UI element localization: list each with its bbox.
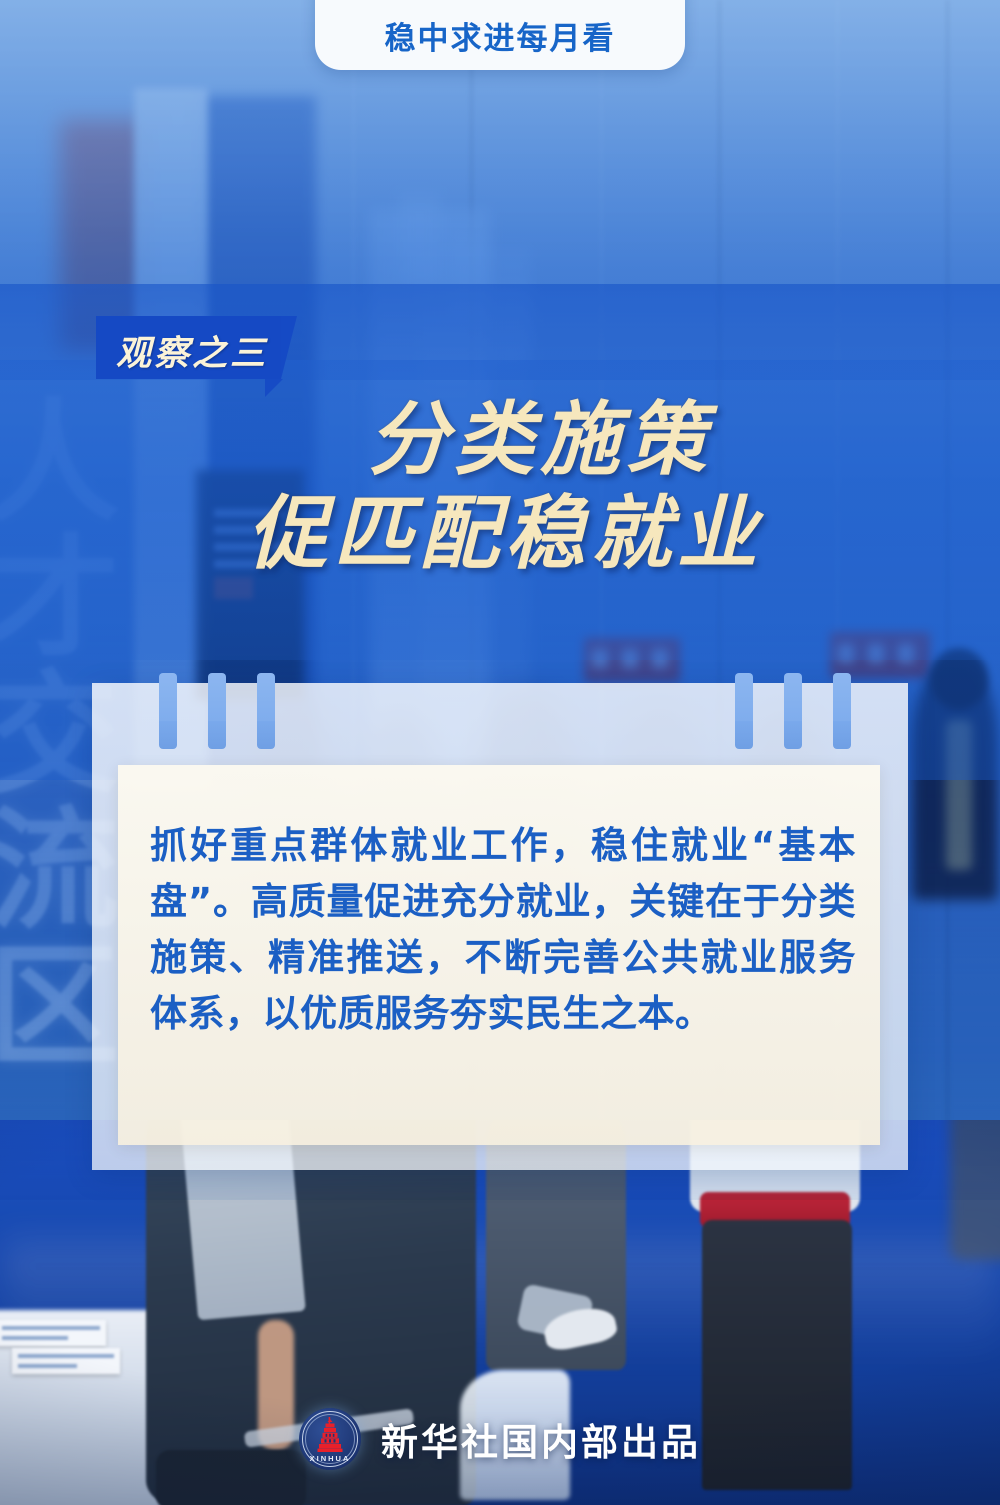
footer-credit: 新华社国内部出品 — [381, 1412, 701, 1466]
title-line-2: 促匹配稳就业 — [0, 485, 1000, 581]
binding-ring-bar-lower — [833, 721, 851, 749]
binding-ring — [208, 673, 226, 741]
binding-ring-bar-lower — [784, 721, 802, 749]
binding-ring-bar-lower — [257, 721, 275, 749]
title-line-1: 分类施策 — [0, 393, 1000, 485]
header-badge: 稳中求进每月看 — [315, 0, 685, 70]
poster-title: 分类施策 促匹配稳就业 — [0, 393, 1000, 581]
observation-tag-shape: 观察之三 — [96, 316, 281, 379]
note-card-body: 抓好重点群体就业工作，稳住就业“基本盘”。高质量促进充分就业，关键在于分类施策、… — [150, 818, 856, 1042]
binding-ring — [833, 673, 851, 741]
binding-ring-bar-lower — [735, 721, 753, 749]
observation-tag: 观察之三 — [96, 316, 281, 379]
logo-tower-glyph — [315, 1417, 345, 1455]
header-badge-label: 稳中求进每月看 — [385, 13, 616, 58]
footer: XINHUA 新华社国内部出品 — [0, 1408, 1000, 1470]
binding-ring-bar-lower — [208, 721, 226, 749]
binding-ring-bar-lower — [159, 721, 177, 749]
observation-tag-label: 观察之三 — [116, 325, 268, 376]
logo-arc-text: XINHUA — [299, 1454, 361, 1463]
binding-ring — [257, 673, 275, 741]
binding-ring — [735, 673, 753, 741]
xinhua-logo-icon: XINHUA — [299, 1408, 361, 1470]
binding-ring — [159, 673, 177, 741]
binding-ring — [784, 673, 802, 741]
poster-root: 人才交流区 — [0, 0, 1000, 1505]
